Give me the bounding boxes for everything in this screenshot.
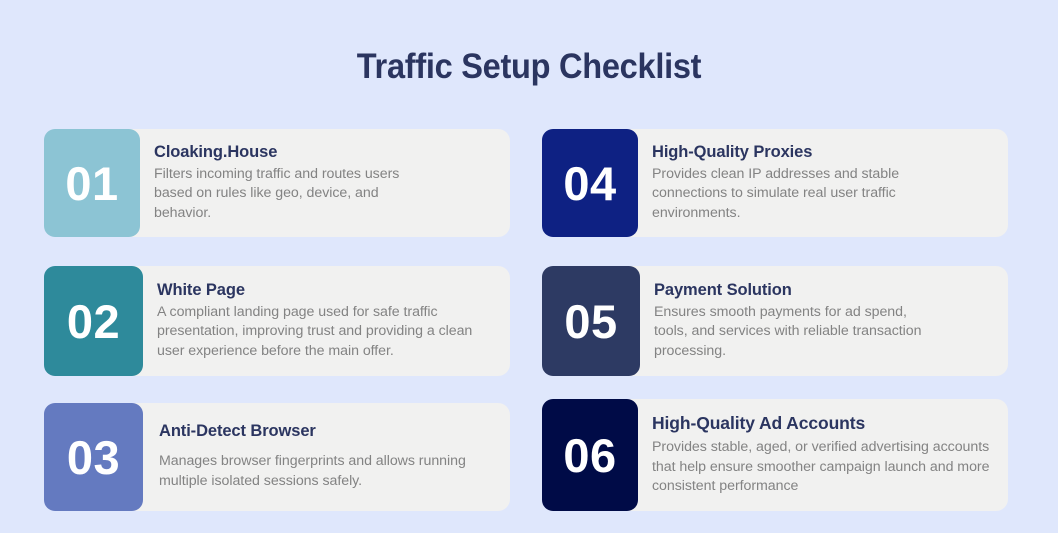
checklist-card: 06 High-Quality Ad Accounts Provides sta…: [542, 399, 1008, 511]
card-title: White Page: [157, 281, 496, 300]
card-title: Payment Solution: [654, 281, 994, 300]
checklist-card: 02 White Page A compliant landing page u…: [44, 266, 510, 376]
checklist-grid: 01 Cloaking.House Filters incoming traff…: [0, 0, 1058, 533]
card-number-badge: 05: [542, 266, 640, 376]
card-number-badge: 04: [542, 129, 638, 237]
checklist-card: 04 High-Quality Proxies Provides clean I…: [542, 129, 1008, 237]
card-content: White Page A compliant landing page used…: [129, 266, 510, 376]
checklist-card: 03 Anti-Detect Browser Manages browser f…: [44, 403, 510, 511]
card-description: Manages browser fingerprints and allows …: [159, 452, 479, 491]
card-number-badge: 06: [542, 399, 638, 511]
card-content: High-Quality Ad Accounts Provides stable…: [624, 399, 1008, 511]
card-title: Anti-Detect Browser: [159, 422, 496, 441]
card-content: Anti-Detect Browser Manages browser fing…: [129, 403, 510, 511]
card-content: Payment Solution Ensures smooth payments…: [626, 266, 1008, 376]
card-description: Provides clean IP addresses and stable c…: [652, 165, 942, 224]
card-title: High-Quality Proxies: [652, 143, 994, 162]
card-number-badge: 03: [44, 403, 143, 511]
card-number-badge: 02: [44, 266, 143, 376]
card-description: Provides stable, aged, or verified adver…: [652, 438, 992, 497]
card-title: Cloaking.House: [154, 143, 490, 162]
card-description: A compliant landing page used for safe t…: [157, 303, 487, 362]
card-description: Ensures smooth payments for ad spend, to…: [654, 303, 944, 362]
card-number-badge: 01: [44, 129, 140, 237]
checklist-card: 01 Cloaking.House Filters incoming traff…: [44, 129, 510, 237]
card-title: High-Quality Ad Accounts: [652, 413, 994, 434]
card-description: Filters incoming traffic and routes user…: [154, 165, 404, 224]
card-content: High-Quality Proxies Provides clean IP a…: [624, 129, 1008, 237]
infographic-page: Traffic Setup Checklist 01 Cloaking.Hous…: [0, 0, 1058, 533]
checklist-card: 05 Payment Solution Ensures smooth payme…: [542, 266, 1008, 376]
card-content: Cloaking.House Filters incoming traffic …: [126, 129, 510, 237]
